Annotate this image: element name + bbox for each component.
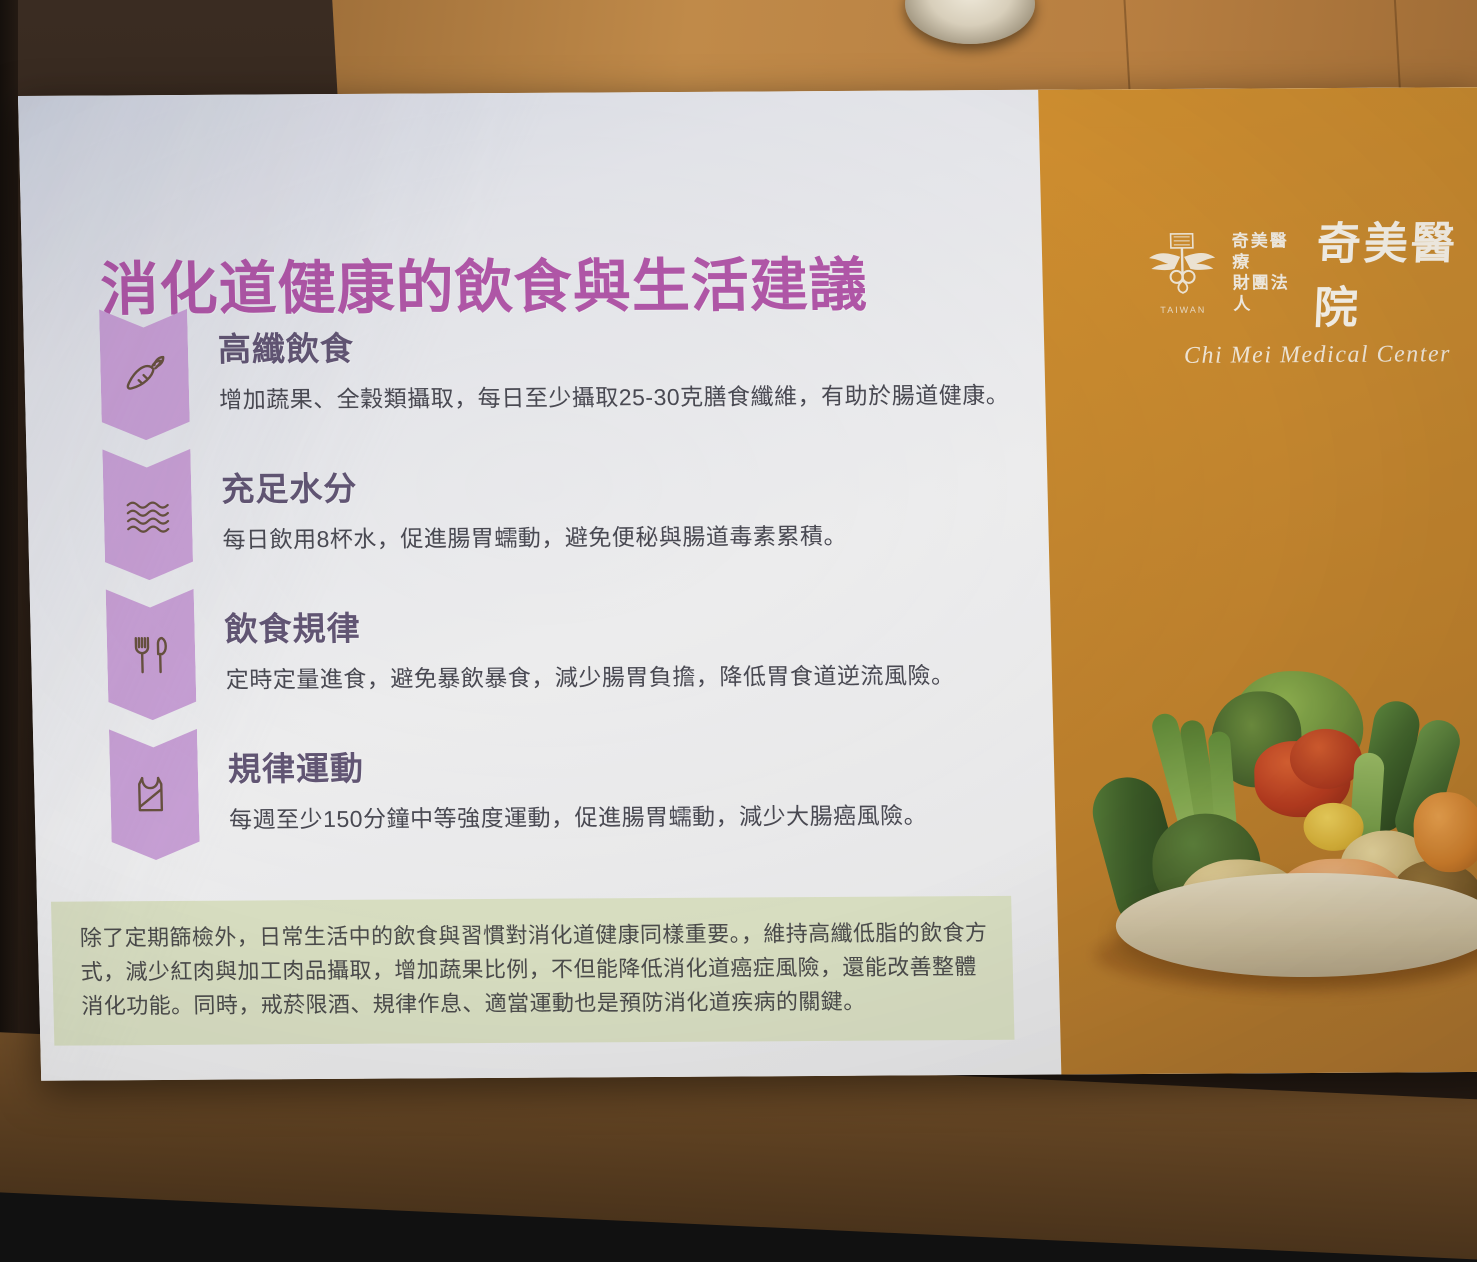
- projection-screen: 消化道健康的飲食與生活建議 高纖飲食 增加蔬果、: [18, 87, 1477, 1081]
- recommendation-list: 高纖飲食 增加蔬果、全穀類攝取，每日至少攝取25-30克膳食纖維，有助於腸道健康…: [99, 304, 1042, 870]
- footer-note-box: 除了定期篩檢外，日常生活中的飲食與習慣對消化道健康同樣重要。，維持高纖低脂的飲食…: [51, 896, 1015, 1046]
- item-heading: 充足水分: [221, 459, 847, 511]
- healthy-food-plate-photo: [1091, 652, 1477, 984]
- wall-left-edge: [0, 0, 18, 1108]
- logo-name-en: Chi Mei Medical Center: [1184, 341, 1452, 370]
- logo-org-line1: 奇美醫療: [1231, 230, 1301, 273]
- logo-org-line2: 財團法人: [1232, 272, 1302, 315]
- chevron-badge: [106, 589, 197, 721]
- presentation-slide: 消化道健康的飲食與生活建議 高纖飲食 增加蔬果、: [18, 87, 1477, 1081]
- water-waves-icon: [121, 494, 174, 534]
- hospital-logo: TAIWAN 奇美醫療 財團法人 奇美醫院 Chi Mei Medical Ce…: [1145, 207, 1477, 370]
- item-description: 每日飲用8杯水，促進腸胃蠕動，避免便秘與腸道毒素累積。: [222, 517, 847, 555]
- tank-top-exercise-icon: [132, 771, 177, 817]
- brand-panel: TAIWAN 奇美醫療 財團法人 奇美醫院 Chi Mei Medical Ce…: [1038, 87, 1477, 1074]
- list-item: 規律運動 每週至少150分鐘中等強度運動，促進腸胃蠕動，減少大腸癌風險。: [109, 724, 1042, 870]
- item-description: 定時定量進食，避免暴飲暴食，減少腸胃負擔，降低胃食道逆流風險。: [225, 656, 954, 694]
- item-heading: 高纖飲食: [217, 318, 1008, 371]
- item-description: 增加蔬果、全穀類攝取，每日至少攝取25-30克膳食纖維，有助於腸道健康。: [219, 376, 1010, 415]
- chevron-badge: [109, 729, 200, 861]
- slide-content-panel: 消化道健康的飲食與生活建議 高纖飲食 增加蔬果、: [18, 90, 1061, 1081]
- list-item: 飲食規律 定時定量進食，避免暴飲暴食，減少腸胃負擔，降低胃食道逆流風險。: [106, 584, 1039, 730]
- carrot-icon: [118, 353, 171, 397]
- footer-note-text: 除了定期篩檢外，日常生活中的飲食與習慣對消化道健康同樣重要。，維持高纖低脂的飲食…: [79, 916, 990, 1024]
- item-heading: 規律運動: [227, 738, 926, 790]
- fork-knife-icon: [128, 631, 175, 677]
- list-item: 高纖飲食 增加蔬果、全穀類攝取，每日至少攝取25-30克膳食纖維，有助於腸道健康…: [99, 304, 1032, 450]
- chevron-badge: [102, 449, 193, 581]
- item-heading: 飲食規律: [224, 598, 954, 650]
- logo-name-cn: 奇美醫院: [1312, 207, 1477, 336]
- logo-taiwan-label: TAIWAN: [1160, 305, 1206, 315]
- list-item: 充足水分 每日飲用8杯水，促進腸胃蠕動，避免便秘與腸道毒素累積。: [102, 444, 1035, 590]
- caduceus-wings-emblem-icon: [1145, 231, 1219, 311]
- chevron-badge: [99, 309, 190, 441]
- item-description: 每週至少150分鐘中等強度運動，促進腸胃蠕動，減少大腸癌風險。: [229, 796, 928, 834]
